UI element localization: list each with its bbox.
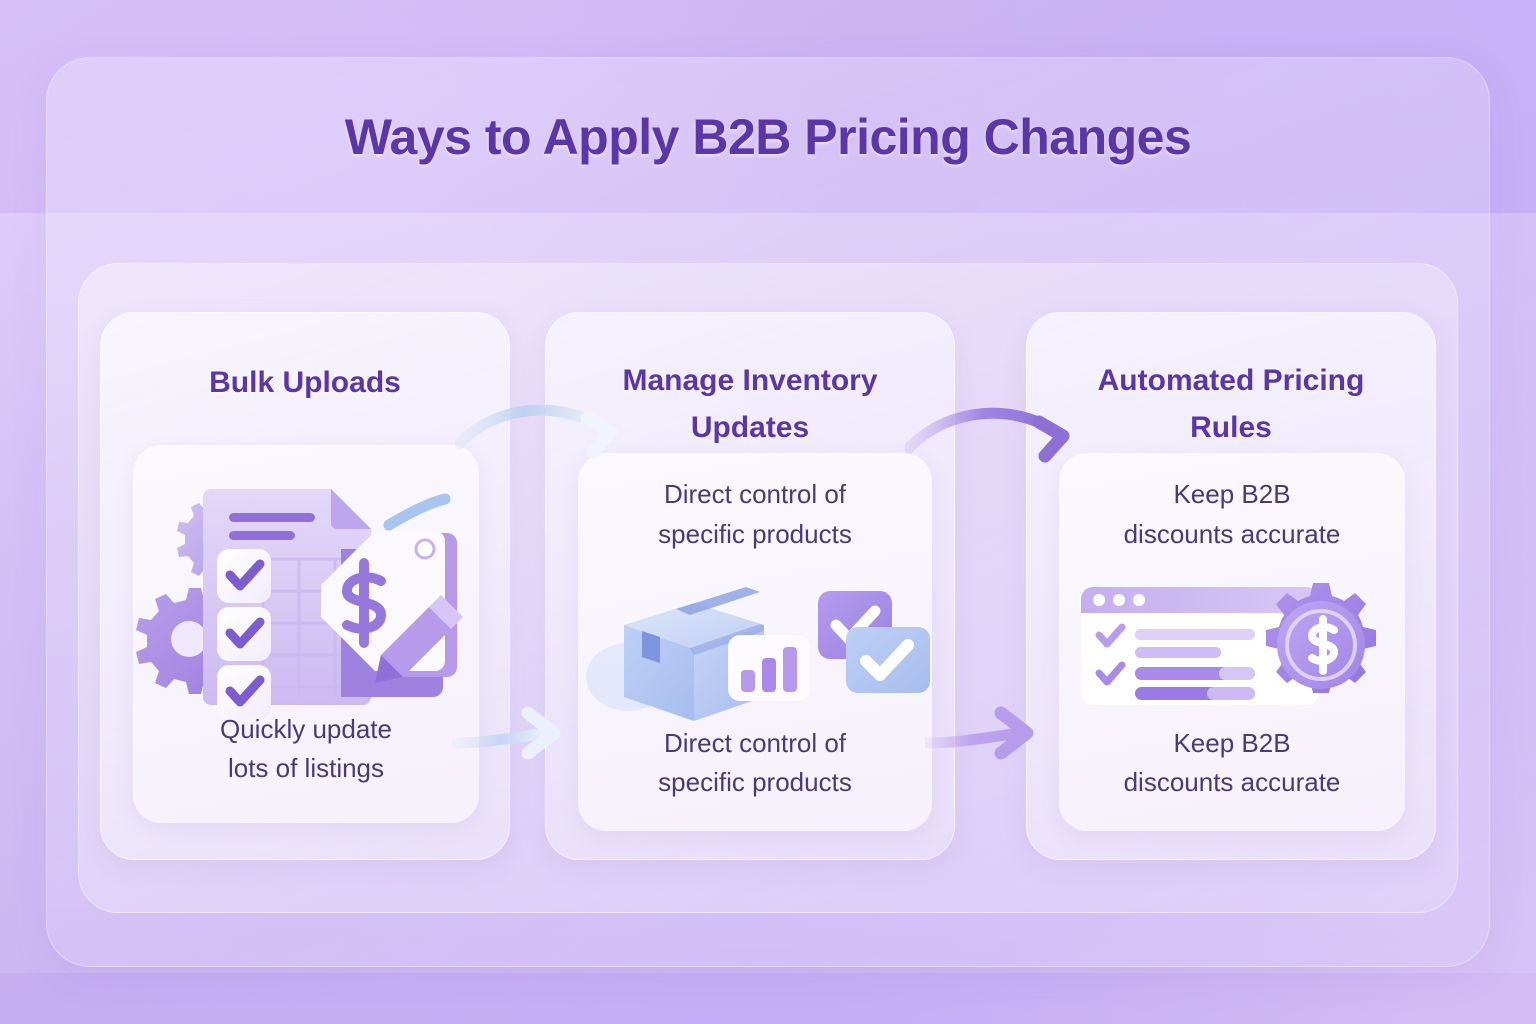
card-top-text: Direct control of specific products: [578, 475, 932, 554]
card-inner-panel: Keep B2B discounts accurate: [1059, 453, 1405, 831]
browser-rules-gear-dollar-icon: [1059, 569, 1405, 729]
card-bottom-text: Quickly update lots of listings: [133, 710, 479, 789]
card-heading: Bulk Uploads: [101, 359, 509, 406]
card-automated-pricing-rules[interactable]: Automated Pricing Rules Keep B2B discoun…: [1026, 312, 1436, 860]
card-inner-panel: Direct control of specific products: [578, 453, 932, 831]
card-heading: Manage Inventory Updates: [546, 357, 954, 452]
infographic-stage: Ways to Apply B2B Pricing Changes Bulk U…: [0, 0, 1536, 1024]
card-heading: Automated Pricing Rules: [1027, 357, 1435, 452]
box-chart-checkmarks-icon: [578, 569, 932, 729]
card-bulk-uploads[interactable]: Bulk Uploads: [100, 312, 510, 860]
card-inner-panel: Quickly update lots of listings: [133, 445, 479, 823]
card-bottom-text: Keep B2B discounts accurate: [1059, 724, 1405, 803]
page-title: Ways to Apply B2B Pricing Changes: [0, 108, 1536, 166]
card-manage-inventory-updates[interactable]: Manage Inventory Updates Direct control …: [545, 312, 955, 860]
card-bottom-text: Direct control of specific products: [578, 724, 932, 803]
checklist-pricetag-gears-icon: [133, 467, 479, 719]
card-top-text: Keep B2B discounts accurate: [1059, 475, 1405, 554]
